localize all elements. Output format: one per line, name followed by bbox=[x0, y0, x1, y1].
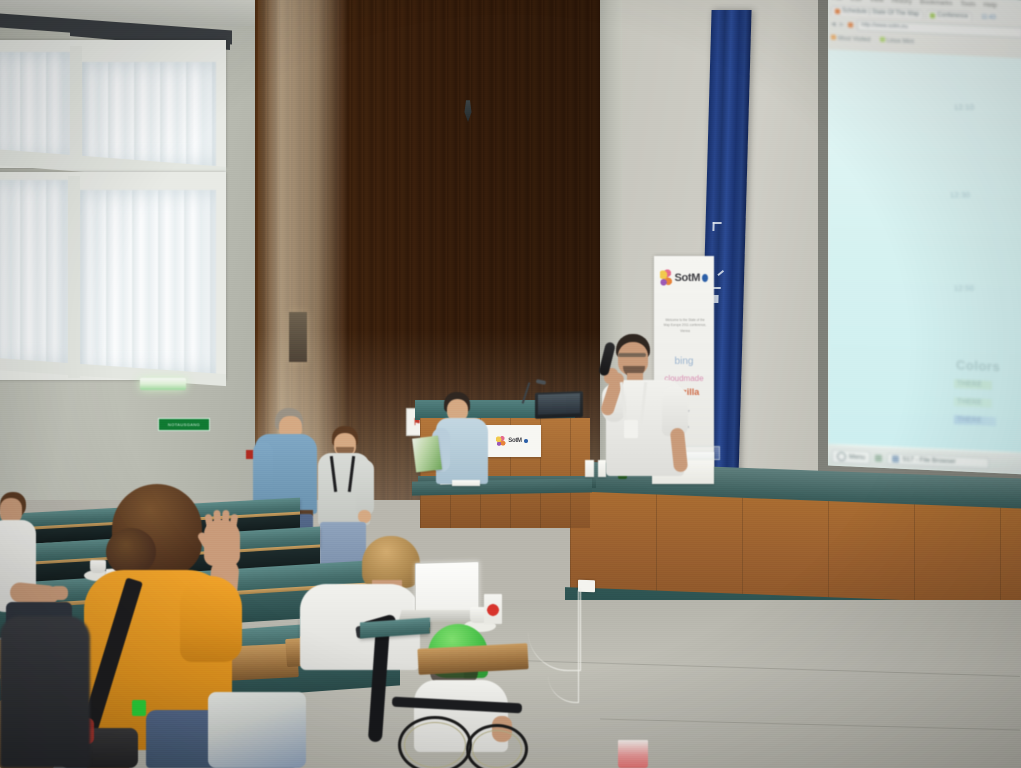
menu-history[interactable]: History bbox=[892, 0, 912, 5]
schedule-page: 12:10 12:30 12:50 Colors THERE THERE THE… bbox=[828, 49, 1021, 452]
taskbar-quicklaunch-icon[interactable] bbox=[875, 454, 882, 461]
curtain-marking-3 bbox=[717, 270, 724, 276]
green-folder bbox=[412, 436, 442, 473]
taskbar-menu-label: Menu bbox=[849, 453, 865, 461]
front-left-attendee-2 bbox=[0, 616, 90, 768]
bookmark-linux-mint-label: Linux Mint bbox=[887, 38, 914, 45]
time-label-1: 12:10 bbox=[954, 103, 975, 112]
sotm-logo: SotM bbox=[660, 266, 708, 290]
exit-light-fixture bbox=[140, 378, 186, 390]
tab-schedule-label: Schedule | State Of The Map bbox=[842, 8, 919, 18]
page-icon bbox=[930, 13, 935, 18]
clock-label: 11:43 bbox=[981, 14, 996, 21]
pink-cup-on-floor bbox=[618, 740, 648, 768]
walking-grey-arm bbox=[356, 460, 374, 516]
window-pane-lower-left bbox=[0, 180, 68, 366]
podium-sotm-map-icon bbox=[496, 436, 506, 447]
window-mullion-vertical-lower bbox=[68, 176, 80, 378]
wheelchair-wheel-left bbox=[398, 716, 472, 768]
exit-sign-label: NOTAUSGANG bbox=[168, 422, 200, 427]
orange-attendee-hair-curls bbox=[106, 528, 156, 576]
reload-icon[interactable] bbox=[848, 22, 853, 27]
orange-attendee-seat-cushion bbox=[208, 692, 306, 768]
back-icon[interactable]: ◀ bbox=[831, 20, 836, 27]
power-cable-2 bbox=[548, 590, 579, 703]
tab-conference[interactable]: Conference bbox=[926, 10, 972, 21]
wheelchair-wheel-rim-right bbox=[472, 730, 522, 768]
menu-file[interactable]: File bbox=[832, 0, 842, 2]
forward-icon[interactable]: ▶ bbox=[840, 20, 845, 27]
bookmark-linux-mint[interactable]: Linux Mint bbox=[880, 36, 914, 45]
sotm-logo-text: SotM bbox=[674, 272, 700, 284]
orange-attendee-finger-2 bbox=[213, 510, 222, 532]
desk-papers bbox=[452, 480, 480, 486]
taskbar-window-button[interactable]: S17 - File Browser bbox=[887, 453, 989, 469]
tab-conference-label: Conference bbox=[937, 12, 968, 19]
front-left-hand bbox=[50, 586, 68, 600]
wheelchair-wheel-rim-left bbox=[404, 722, 466, 768]
schedule-row-2[interactable]: THERE bbox=[954, 397, 992, 408]
curtain-marking-2 bbox=[712, 222, 714, 231]
window-mullion-vertical-upper bbox=[70, 46, 82, 170]
projection-screen[interactable]: File Edit View History Bookmarks Tools H… bbox=[828, 0, 1021, 475]
podium-sign-text: SotM bbox=[508, 438, 521, 444]
wall-sconce-light bbox=[289, 312, 307, 362]
speaker-badge bbox=[624, 420, 638, 438]
schedule-row-1[interactable]: THERE bbox=[954, 379, 992, 390]
schedule-heading: Colors bbox=[956, 357, 1000, 374]
glasses-icon bbox=[618, 353, 646, 357]
podium-sotm-eu-icon bbox=[524, 439, 528, 443]
speaker-person bbox=[596, 330, 696, 490]
menu-icon bbox=[837, 451, 846, 460]
time-label-2: 12:30 bbox=[950, 190, 971, 199]
bookmark-most-visited[interactable]: Most Visited bbox=[831, 34, 871, 43]
window-pane-upper-left bbox=[0, 52, 70, 158]
star-icon bbox=[831, 34, 836, 39]
confidence-monitor bbox=[535, 391, 583, 419]
sotm-eu-badge-icon bbox=[702, 274, 708, 282]
red-white-paper-cup bbox=[484, 594, 502, 624]
taskbar-menu-button[interactable]: Menu bbox=[832, 449, 870, 464]
window-pane-upper-right bbox=[82, 62, 216, 166]
tab-schedule[interactable]: Schedule | State Of The Map bbox=[831, 6, 923, 19]
taskbar-window-label: S17 - File Browser bbox=[902, 455, 955, 464]
schedule-row-3[interactable]: THERE bbox=[954, 415, 996, 426]
menu-bookmarks[interactable]: Bookmarks bbox=[920, 0, 953, 7]
folder-icon bbox=[892, 455, 899, 462]
window-pane-lower-right bbox=[80, 190, 216, 374]
orange-shirt-attendee bbox=[60, 480, 300, 768]
exit-sign: NOTAUSGANG bbox=[158, 418, 210, 431]
projected-desktop: File Edit View History Bookmarks Tools H… bbox=[828, 0, 1021, 475]
mint-icon bbox=[880, 36, 885, 41]
menu-tools[interactable]: Tools bbox=[960, 0, 975, 8]
menu-view[interactable]: View bbox=[870, 0, 884, 4]
bookmark-most-visited-label: Most Visited bbox=[838, 35, 871, 42]
firefox-icon bbox=[835, 8, 840, 13]
monitor-screen bbox=[538, 393, 580, 414]
wheelchair-wheel-right bbox=[466, 724, 528, 768]
small-carton-1 bbox=[585, 460, 594, 477]
menu-help[interactable]: Help bbox=[984, 2, 997, 10]
menu-edit[interactable]: Edit bbox=[850, 0, 861, 3]
sotm-map-icon bbox=[660, 269, 672, 288]
orange-attendee-strap-clip bbox=[132, 700, 146, 716]
orange-attendee-shoulder bbox=[180, 576, 242, 662]
time-label-3: 12:50 bbox=[954, 284, 975, 293]
photo-scene: NOTAUSGANG ⚑ File Edit View History Book… bbox=[0, 0, 1021, 768]
